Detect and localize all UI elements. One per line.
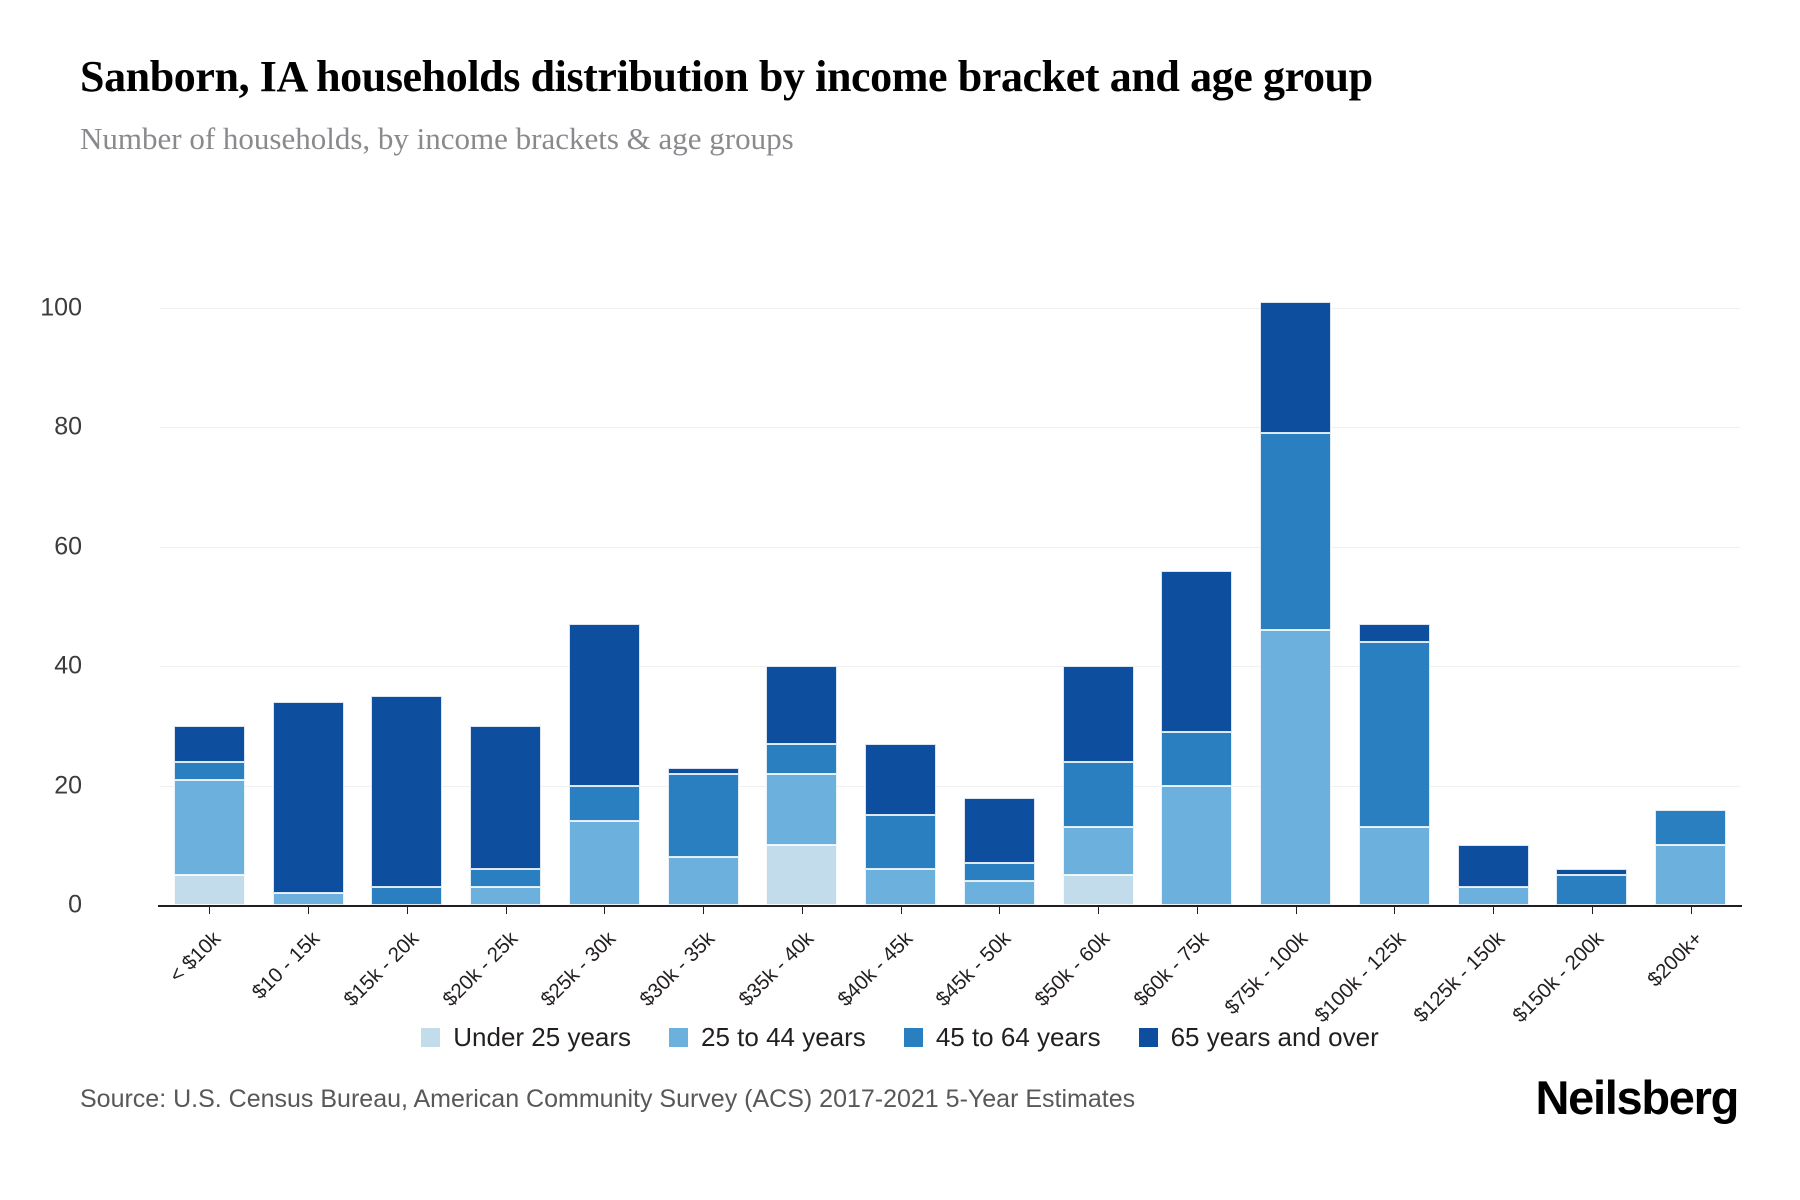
bar-slot: [654, 308, 753, 905]
x-tick-mark: [1592, 905, 1593, 914]
x-tick-mark: [1296, 905, 1297, 914]
bar-stack[interactable]: [668, 768, 739, 905]
chart-subtitle: Number of households, by income brackets…: [80, 121, 1640, 157]
bar-segment[interactable]: [766, 666, 837, 744]
x-tick-label: $10 - 15k: [248, 927, 325, 1004]
bar-segment[interactable]: [273, 702, 344, 893]
bar-stack[interactable]: [1655, 810, 1726, 906]
bar-slot: [1148, 308, 1247, 905]
x-tick-mark: [209, 905, 210, 914]
bar-group: [160, 308, 1740, 905]
bar-segment[interactable]: [964, 881, 1035, 905]
bar-segment[interactable]: [1063, 875, 1134, 905]
bar-segment[interactable]: [1359, 624, 1430, 642]
x-tick-mark: [506, 905, 507, 914]
legend-swatch-icon: [1139, 1028, 1158, 1047]
x-axis-line: [158, 905, 1742, 907]
y-tick-label: 40: [54, 652, 82, 681]
x-tick-mark: [1691, 905, 1692, 914]
bar-stack[interactable]: [766, 666, 837, 905]
bar-slot: [950, 308, 1049, 905]
bar-slot: [456, 308, 555, 905]
y-tick-label: 20: [54, 771, 82, 800]
bar-segment[interactable]: [1359, 827, 1430, 905]
x-tick-mark: [1098, 905, 1099, 914]
bar-slot: [160, 308, 259, 905]
chart-plot-wrapper: 020406080100 < $10k$10 - 15k$15k - 20k$2…: [0, 250, 1800, 910]
y-tick-label: 0: [68, 891, 82, 920]
bar-segment[interactable]: [470, 887, 541, 905]
legend-label: 45 to 64 years: [936, 1022, 1101, 1053]
bar-slot: [1641, 308, 1740, 905]
x-tick-mark: [703, 905, 704, 914]
legend-label: 65 years and over: [1171, 1022, 1379, 1053]
x-tick-mark: [1394, 905, 1395, 914]
bar-segment[interactable]: [1458, 845, 1529, 887]
bar-slot: [753, 308, 852, 905]
bar-slot: [1345, 308, 1444, 905]
bar-segment[interactable]: [1063, 666, 1134, 762]
x-tick-mark: [1493, 905, 1494, 914]
bar-slot: [1444, 308, 1543, 905]
bar-segment[interactable]: [1161, 786, 1232, 905]
bar-slot: [259, 308, 358, 905]
legend-label: Under 25 years: [453, 1022, 631, 1053]
legend-item[interactable]: 45 to 64 years: [904, 1022, 1101, 1053]
legend-swatch-icon: [904, 1028, 923, 1047]
bar-stack[interactable]: [1556, 869, 1627, 905]
bar-segment[interactable]: [273, 893, 344, 905]
bar-segment[interactable]: [766, 744, 837, 774]
bar-stack[interactable]: [470, 726, 541, 905]
legend-swatch-icon: [669, 1028, 688, 1047]
bar-segment[interactable]: [1161, 571, 1232, 732]
bar-segment[interactable]: [569, 786, 640, 822]
bar-slot: [555, 308, 654, 905]
bar-segment[interactable]: [174, 875, 245, 905]
bar-slot: [851, 308, 950, 905]
bar-slot: [1049, 308, 1148, 905]
bar-stack[interactable]: [1260, 302, 1331, 905]
bar-segment[interactable]: [1063, 827, 1134, 875]
bar-segment[interactable]: [865, 815, 936, 869]
bar-stack[interactable]: [174, 726, 245, 905]
brand-logo: Neilsberg: [1536, 1070, 1739, 1125]
bar-segment[interactable]: [470, 726, 541, 869]
bar-stack[interactable]: [1458, 845, 1529, 905]
legend-item[interactable]: Under 25 years: [421, 1022, 631, 1053]
bar-segment[interactable]: [1063, 762, 1134, 828]
legend-swatch-icon: [421, 1028, 440, 1047]
bar-slot: [1543, 308, 1642, 905]
bar-segment[interactable]: [1556, 875, 1627, 905]
bar-segment[interactable]: [1161, 732, 1232, 786]
bar-segment[interactable]: [371, 696, 442, 887]
chart-legend: Under 25 years25 to 44 years45 to 64 yea…: [0, 1022, 1800, 1053]
x-tick-mark: [407, 905, 408, 914]
legend-label: 25 to 44 years: [701, 1022, 866, 1053]
bar-segment[interactable]: [470, 869, 541, 887]
bar-segment[interactable]: [371, 887, 442, 905]
x-tick-mark: [1197, 905, 1198, 914]
y-tick-label: 100: [40, 294, 82, 323]
y-tick-label: 60: [54, 532, 82, 561]
bar-segment[interactable]: [1458, 887, 1529, 905]
bar-slot: [358, 308, 457, 905]
source-note: Source: U.S. Census Bureau, American Com…: [80, 1085, 1135, 1114]
legend-item[interactable]: 25 to 44 years: [669, 1022, 866, 1053]
bar-segment[interactable]: [174, 762, 245, 780]
bar-slot: [1246, 308, 1345, 905]
bar-stack[interactable]: [1359, 624, 1430, 905]
bar-segment[interactable]: [569, 821, 640, 905]
bar-segment[interactable]: [766, 845, 837, 905]
legend-item[interactable]: 65 years and over: [1139, 1022, 1379, 1053]
bar-stack[interactable]: [1161, 571, 1232, 905]
x-tick-mark: [802, 905, 803, 914]
bar-stack[interactable]: [569, 624, 640, 905]
bar-segment[interactable]: [766, 774, 837, 846]
bar-segment[interactable]: [1260, 630, 1331, 905]
bar-segment[interactable]: [964, 798, 1035, 864]
x-tick-mark: [999, 905, 1000, 914]
y-tick-label: 80: [54, 413, 82, 442]
bar-segment[interactable]: [1260, 433, 1331, 630]
bar-segment[interactable]: [1655, 810, 1726, 846]
bar-segment[interactable]: [1359, 642, 1430, 827]
bar-stack[interactable]: [865, 744, 936, 905]
x-tick-label: $200k+: [1643, 927, 1708, 992]
bar-stack[interactable]: [273, 702, 344, 905]
bar-stack[interactable]: [964, 798, 1035, 905]
bar-segment[interactable]: [668, 857, 739, 905]
bar-stack[interactable]: [371, 696, 442, 905]
bar-segment[interactable]: [865, 744, 936, 816]
bar-segment[interactable]: [569, 624, 640, 785]
bar-segment[interactable]: [668, 774, 739, 858]
bar-segment[interactable]: [174, 726, 245, 762]
plot-area: 020406080100: [160, 308, 1740, 905]
bar-segment[interactable]: [865, 869, 936, 905]
x-tick-label: < $10k: [165, 927, 226, 988]
chart-header: Sanborn, IA households distribution by i…: [80, 48, 1640, 157]
page-title: Sanborn, IA households distribution by i…: [80, 48, 1560, 105]
bar-segment[interactable]: [964, 863, 1035, 881]
bar-segment[interactable]: [174, 780, 245, 876]
x-tick-mark: [308, 905, 309, 914]
x-tick-mark: [604, 905, 605, 914]
bar-stack[interactable]: [1063, 666, 1134, 905]
bar-segment[interactable]: [1260, 302, 1331, 433]
bar-segment[interactable]: [1655, 845, 1726, 905]
x-tick-mark: [901, 905, 902, 914]
